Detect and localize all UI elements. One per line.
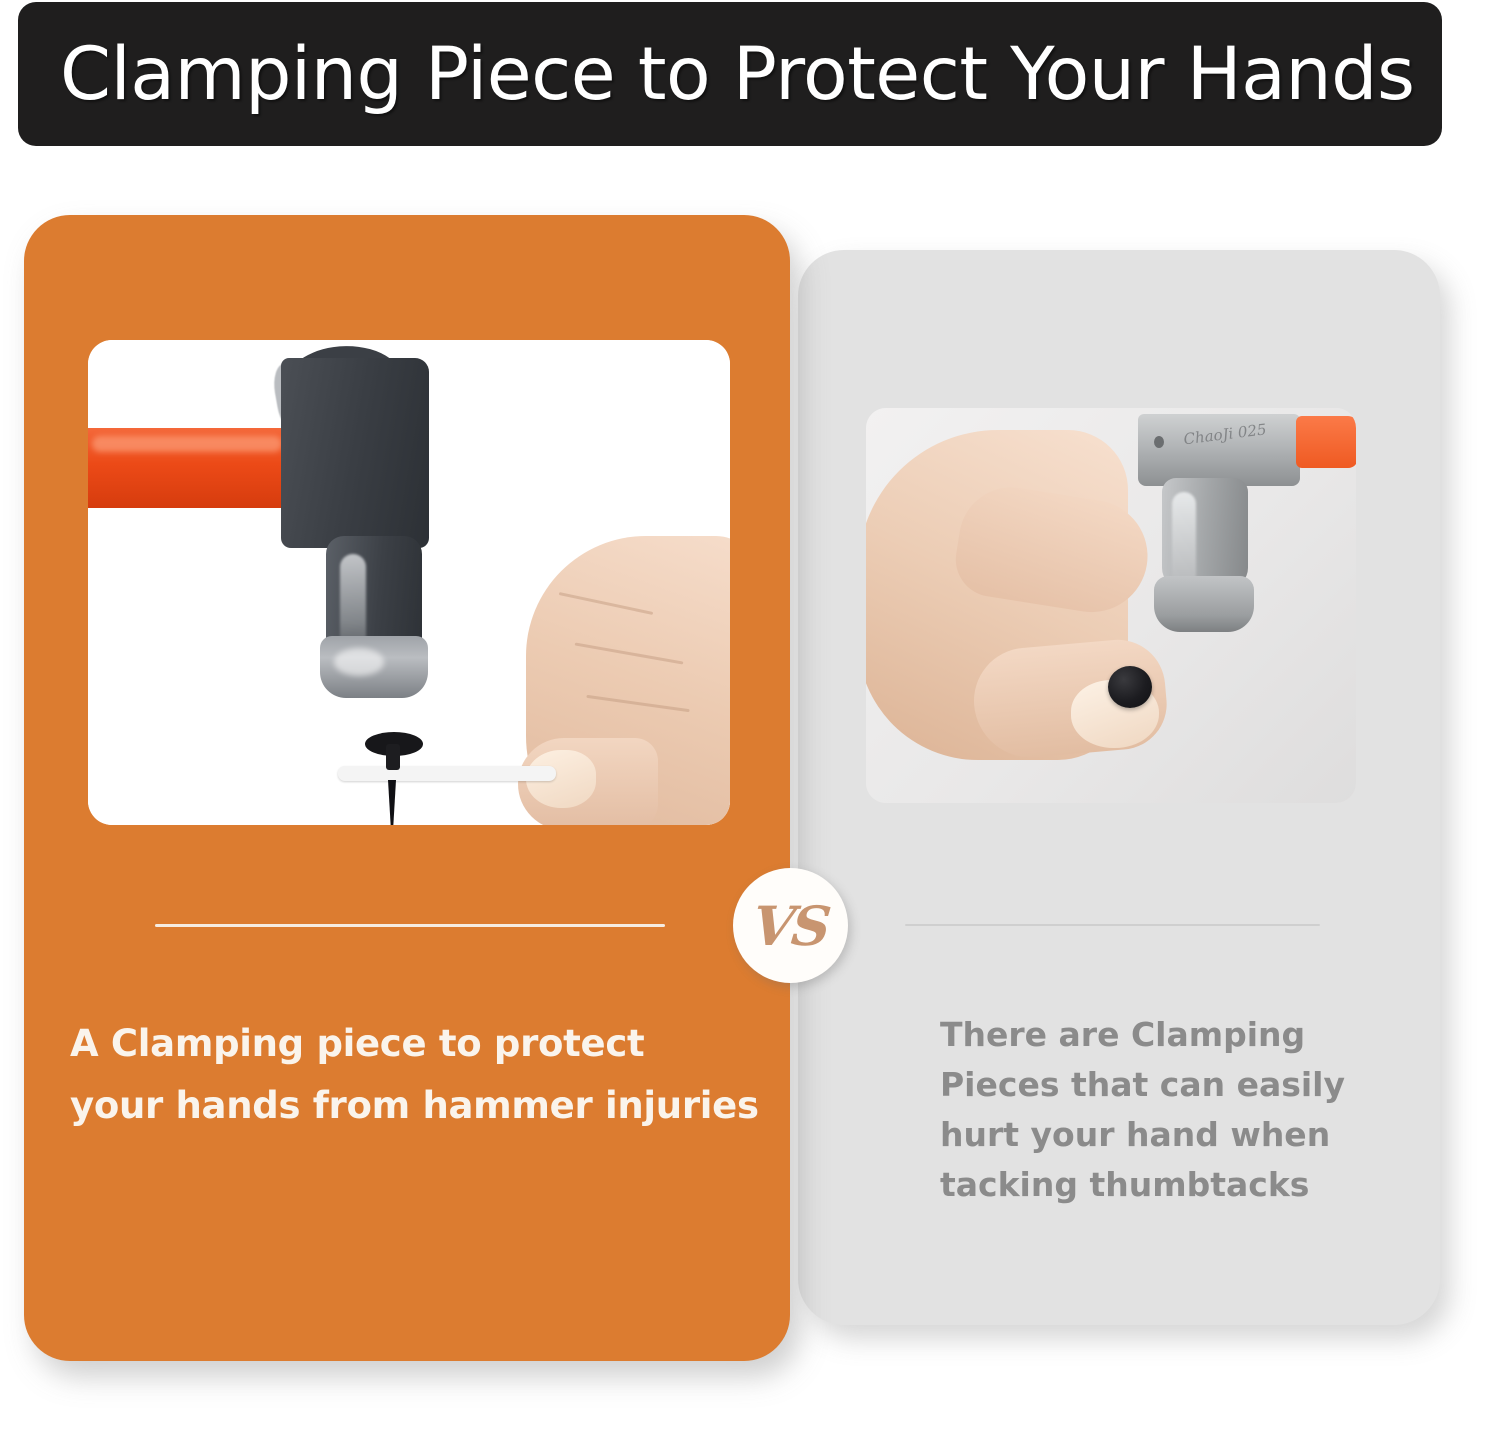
caption-con-line-1: There are Clamping xyxy=(940,1010,1360,1060)
caption-con: There are Clamping Pieces that can easil… xyxy=(940,1010,1360,1210)
hammer-hole-shape xyxy=(1154,436,1164,448)
comparison-panel-pro: A Clamping piece to protect your hands f… xyxy=(24,215,790,1361)
black-thumbtack-icon xyxy=(1108,666,1152,708)
hammer-handle-highlight-shape xyxy=(92,436,282,452)
caption-con-line-2: Pieces that can easily xyxy=(940,1060,1360,1110)
thumbtack-stem-shape xyxy=(386,744,400,770)
divider-con xyxy=(905,924,1320,926)
comparison-area: ChaoJi 025 There are Clamping Pieces tha… xyxy=(0,0,1500,1441)
vs-badge: VS xyxy=(733,868,848,983)
hammer-face-shape xyxy=(1154,576,1254,632)
caption-pro: A Clamping piece to protect your hands f… xyxy=(70,1013,770,1137)
photo-con-artwork: ChaoJi 025 xyxy=(866,408,1356,803)
divider-pro xyxy=(155,924,665,927)
caption-con-line-3: hurt your hand when xyxy=(940,1110,1360,1160)
caption-pro-line-1: A Clamping piece to protect xyxy=(70,1013,770,1075)
photo-hammer-and-clamping-piece xyxy=(88,340,730,825)
hammer-head-shape xyxy=(281,358,429,548)
thumbtack-needle-shape xyxy=(388,780,396,825)
hammer-highlight-shape xyxy=(1172,492,1196,586)
white-clamping-strip-shape xyxy=(338,766,556,781)
caption-con-line-4: tacking thumbtacks xyxy=(940,1160,1360,1210)
photo-pro-artwork xyxy=(88,340,730,825)
caption-pro-line-2: your hands from hammer injuries xyxy=(70,1075,770,1137)
hammer-orange-grip-shape xyxy=(1296,416,1356,468)
comparison-panel-con: ChaoJi 025 There are Clamping Pieces tha… xyxy=(798,250,1440,1325)
vs-label: VS xyxy=(750,894,832,958)
photo-thumbtack-pinched-by-fingers: ChaoJi 025 xyxy=(866,408,1356,803)
hammer-face-highlight-shape xyxy=(334,648,384,676)
